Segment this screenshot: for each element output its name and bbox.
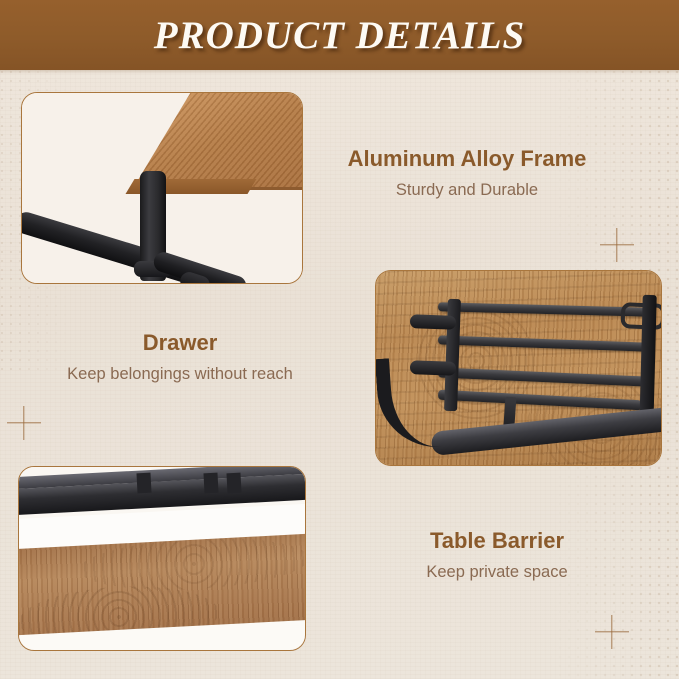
banner-shadow-edge: [0, 70, 679, 74]
feature-heading-aluminum-alloy-frame: Aluminum Alloy Frame: [322, 146, 612, 172]
product-photo-frame: [22, 93, 302, 283]
feature-subheading-aluminum-alloy-frame: Sturdy and Durable: [322, 181, 612, 200]
feature-heading-table-barrier: Table Barrier: [352, 528, 642, 554]
header-banner: PRODUCT DETAILS: [0, 0, 679, 70]
caption-aluminum-alloy-frame: Aluminum Alloy Frame Sturdy and Durable: [322, 146, 612, 200]
cross-mark-icon: [595, 615, 629, 649]
product-details-infographic: PRODUCT DETAILS: [0, 0, 679, 679]
page-title: PRODUCT DETAILS: [154, 13, 525, 58]
cross-mark-icon: [600, 228, 634, 262]
photo-panel-drawer: [375, 270, 662, 466]
product-photo-drawer: [376, 271, 661, 465]
barrier-clip: [203, 473, 218, 494]
feature-subheading-table-barrier: Keep private space: [352, 563, 642, 582]
barrier-clip: [226, 473, 241, 494]
barrier-clip: [136, 473, 151, 494]
drawer-bracket-arm: [410, 314, 456, 330]
caption-drawer: Drawer Keep belongings without reach: [30, 330, 330, 384]
caption-table-barrier: Table Barrier Keep private space: [352, 528, 642, 582]
feature-heading-drawer: Drawer: [30, 330, 330, 356]
feature-subheading-drawer: Keep belongings without reach: [30, 365, 330, 384]
product-photo-barrier: [19, 467, 305, 650]
photo-panel-table-barrier: [18, 466, 306, 651]
photo-panel-aluminum-alloy-frame: [21, 92, 303, 284]
cross-mark-icon: [7, 406, 41, 440]
